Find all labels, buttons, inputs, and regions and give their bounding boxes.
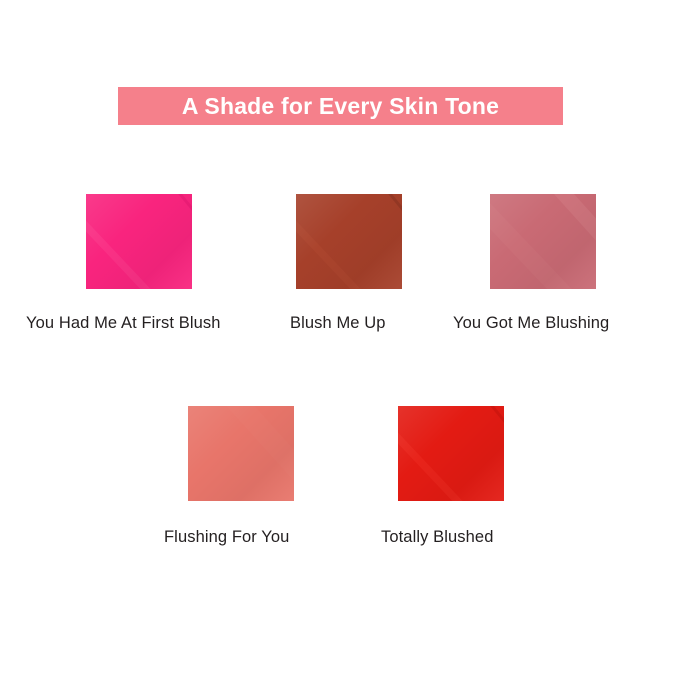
swatch-base-color [398,406,504,501]
shade-swatch[interactable] [188,406,294,501]
swatch-base-color [490,194,596,289]
shade-item[interactable] [398,406,598,501]
shade-swatch[interactable] [86,194,192,289]
shade-label: Totally Blushed [381,529,493,546]
shade-item[interactable] [188,406,388,501]
shade-swatch[interactable] [490,194,596,289]
page-title: A Shade for Every Skin Tone [182,95,499,118]
shade-label: Flushing For You [164,529,289,546]
header-banner: A Shade for Every Skin Tone [118,87,563,125]
shade-label: Blush Me Up [290,315,386,332]
shade-label: You Had Me At First Blush [26,315,220,332]
swatch-base-color [188,406,294,501]
shade-swatch[interactable] [398,406,504,501]
shade-swatch[interactable] [296,194,402,289]
shade-item[interactable] [86,194,286,289]
swatch-base-color [296,194,402,289]
shade-label: You Got Me Blushing [453,315,609,332]
product-shade-chart: A Shade for Every Skin Tone [0,0,679,679]
swatch-base-color [86,194,192,289]
shade-item[interactable] [490,194,679,289]
shade-item[interactable] [296,194,496,289]
